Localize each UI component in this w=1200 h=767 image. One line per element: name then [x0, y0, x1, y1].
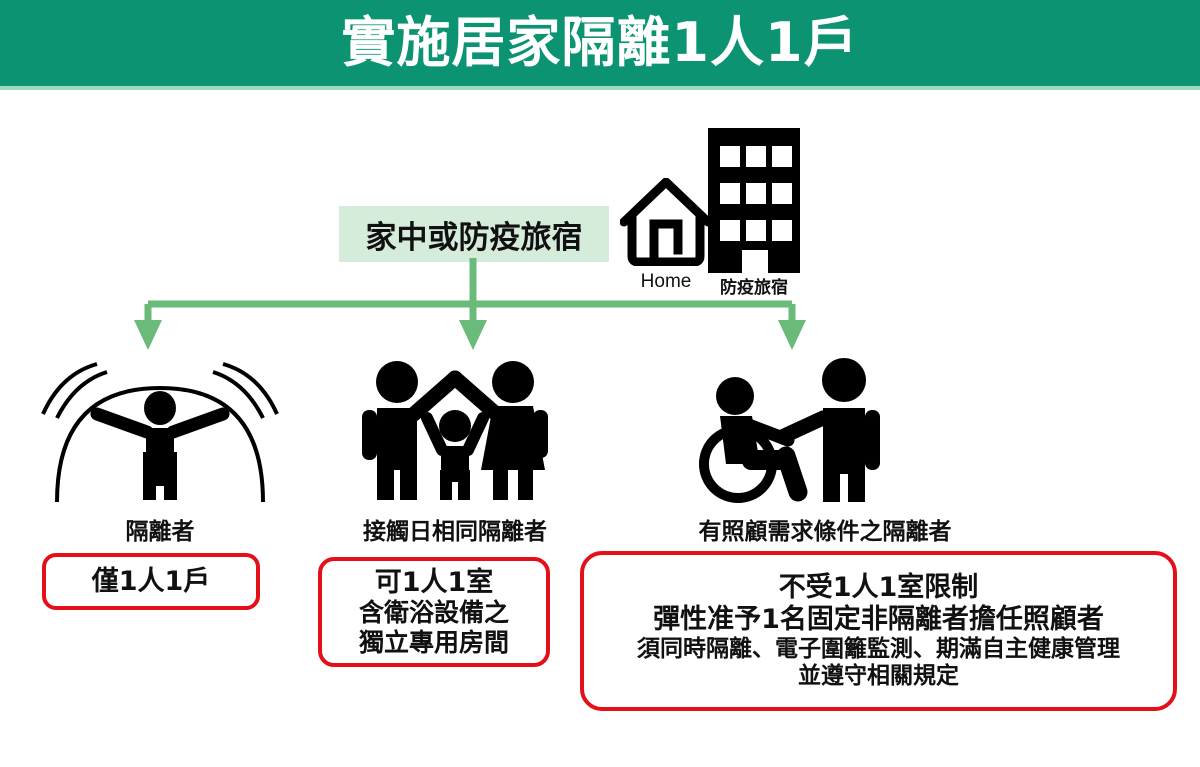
rule-line: 並遵守相關規定: [798, 663, 959, 690]
rule-line: 須同時隔離、電子圍籬監測、期滿自主健康管理: [637, 636, 1120, 663]
rule-line: 含衛浴設備之: [359, 598, 509, 628]
rule-box-family: 可1人1室 含衛浴設備之 獨立專用房間: [318, 557, 550, 667]
page-title: 實施居家隔離1人1戶: [341, 16, 858, 70]
branch-care-needs-caption: 有照顧需求條件之隔離者: [660, 512, 990, 546]
rule-line: 可1人1室: [375, 567, 494, 599]
branch-family-caption: 接觸日相同隔離者: [330, 512, 580, 546]
rule-line: 僅1人1戶: [92, 566, 211, 598]
rule-line: 獨立專用房間: [359, 628, 509, 658]
title-banner: 實施居家隔離1人1戶: [0, 0, 1200, 86]
source-location-box: 家中或防疫旅宿: [339, 206, 609, 262]
branch-isolated-person-caption: 隔離者: [35, 512, 285, 546]
house-icon: [620, 178, 712, 266]
branch-isolated-person: 隔離者: [35, 352, 285, 546]
arrow-tree-icon: [120, 258, 820, 358]
building-icon: [704, 128, 804, 273]
arrow-head-right: [778, 320, 806, 350]
rule-box-isolated-person: 僅1人1戶: [42, 553, 260, 610]
title-banner-underline: [0, 86, 1200, 90]
source-location-label: 家中或防疫旅宿: [366, 212, 583, 257]
connector-arrows: [120, 258, 820, 358]
rule-box-care-needs: 不受1人1室限制 彈性准予1名固定非隔離者擔任照顧者 須同時隔離、電子圍籬監測、…: [580, 551, 1177, 711]
rule-line: 彈性准予1名固定非隔離者擔任照顧者: [653, 604, 1104, 636]
arrow-head-left: [134, 320, 162, 350]
branch-family: 接觸日相同隔離者: [330, 352, 580, 546]
isolated-person-icon: [35, 352, 285, 504]
rule-line: 不受1人1室限制: [779, 572, 979, 604]
branch-care-needs: 有照顧需求條件之隔離者: [660, 352, 990, 546]
family-icon: [330, 352, 580, 504]
wheelchair-caregiver-icon: [660, 352, 990, 504]
arrow-head-center: [459, 320, 487, 350]
